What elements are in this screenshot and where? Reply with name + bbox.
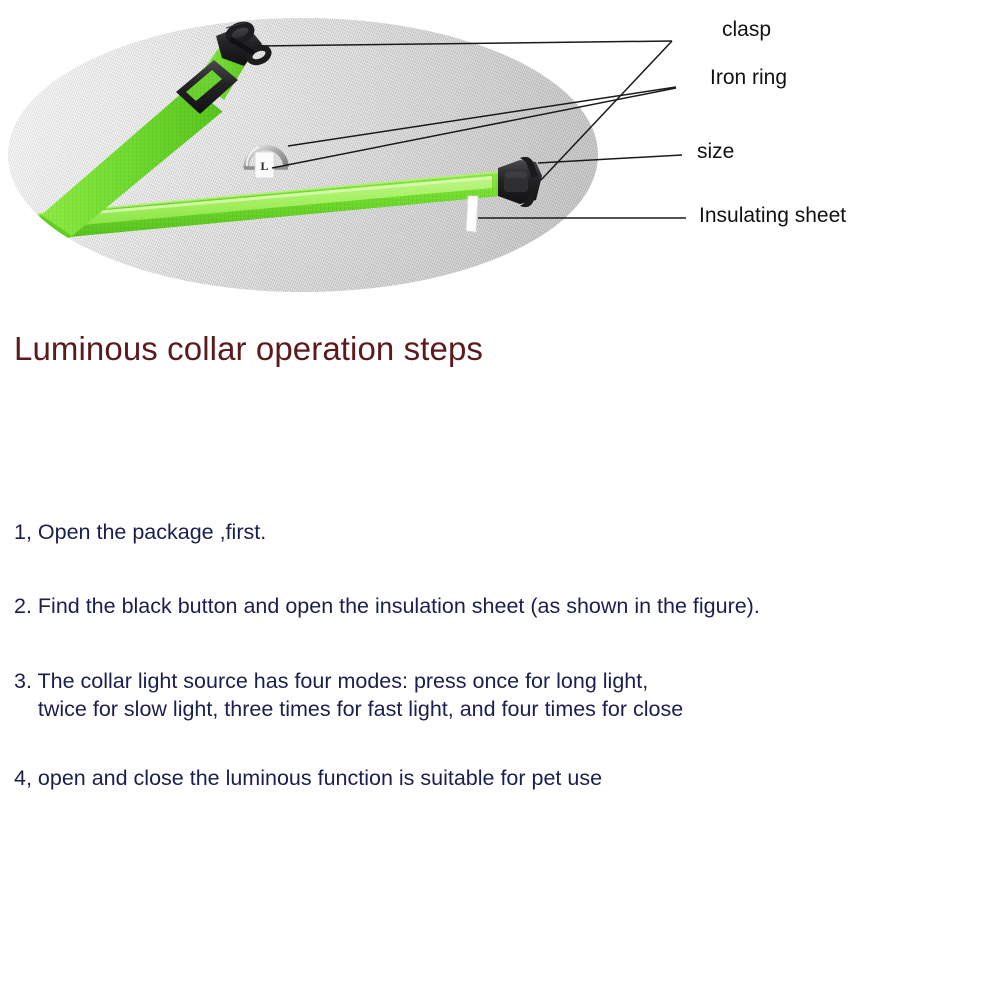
callout-label-iron-ring: Iron ring — [710, 67, 787, 88]
step-item: 3. The collar light source has four mode… — [14, 667, 974, 724]
leader-line-size-tag — [272, 88, 676, 168]
callout-label-size: size — [697, 141, 734, 162]
step-item: 2. Find the black button and open the in… — [14, 592, 974, 620]
leader-line-clasp-top — [258, 41, 672, 46]
leader-line-iron-ring — [288, 87, 676, 146]
insulating-sheet-tab — [466, 196, 478, 232]
svg-text:L: L — [260, 159, 268, 173]
collar-illustration: L — [0, 0, 1000, 310]
step-item: 1, Open the package ,first. — [14, 518, 974, 546]
side-release-buckle — [498, 157, 542, 207]
product-figure: L — [0, 0, 1000, 310]
callout-label-clasp: clasp — [722, 19, 771, 40]
page-title: Luminous collar operation steps — [14, 330, 483, 368]
callout-label-insulating-sheet: Insulating sheet — [699, 205, 846, 226]
leader-line-size — [538, 155, 682, 163]
operation-steps-list: 1, Open the package ,first. 2. Find the … — [14, 518, 974, 792]
size-tag: L — [255, 152, 274, 178]
step-item: 4, open and close the luminous function … — [14, 764, 974, 792]
